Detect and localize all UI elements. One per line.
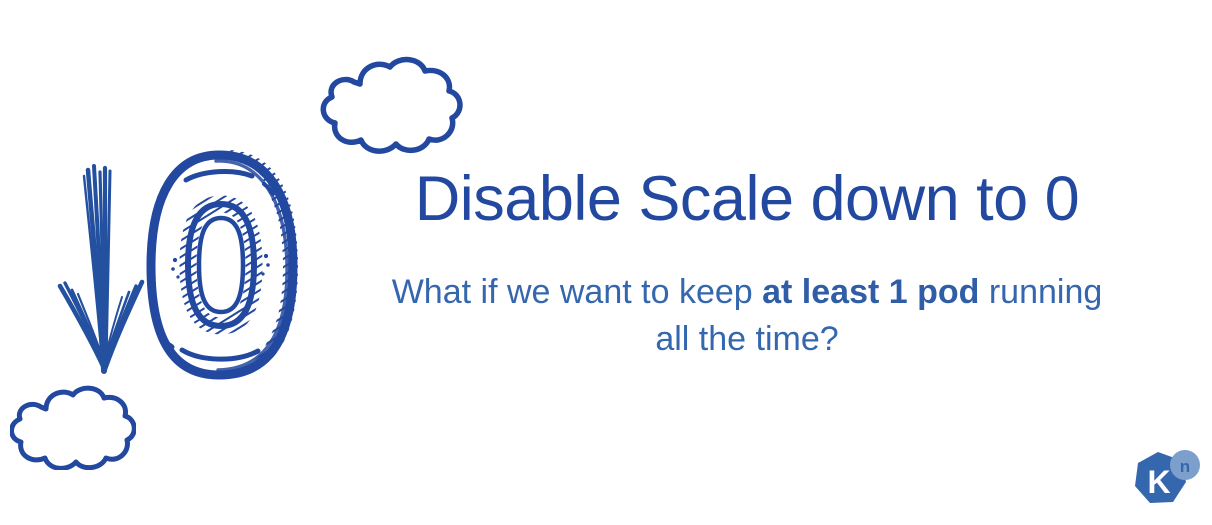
text-block: Disable Scale down to 0 What if we want … bbox=[332, 168, 1162, 364]
cloud-top-icon bbox=[316, 54, 464, 156]
subtitle-suffix: running bbox=[979, 273, 1102, 311]
subtitle-emphasis: at least 1 pod bbox=[762, 273, 979, 311]
subtitle: What if we want to keep at least 1 pod r… bbox=[332, 231, 1162, 364]
subtitle-prefix: What if we want to keep bbox=[392, 273, 762, 311]
logo-letter-k: K bbox=[1147, 464, 1170, 500]
page-title: Disable Scale down to 0 bbox=[332, 168, 1162, 231]
scale-down-arrow-icon bbox=[56, 162, 152, 378]
subtitle-line-2: all the time? bbox=[655, 320, 838, 358]
subtitle-line-1: What if we want to keep at least 1 pod r… bbox=[392, 273, 1103, 311]
slide-canvas: Disable Scale down to 0 What if we want … bbox=[0, 0, 1212, 525]
cloud-bottom-icon bbox=[10, 384, 136, 470]
hand-drawn-zero-icon bbox=[142, 148, 302, 382]
brand-logo: K n bbox=[1128, 448, 1204, 520]
logo-letter-n: n bbox=[1180, 457, 1190, 476]
